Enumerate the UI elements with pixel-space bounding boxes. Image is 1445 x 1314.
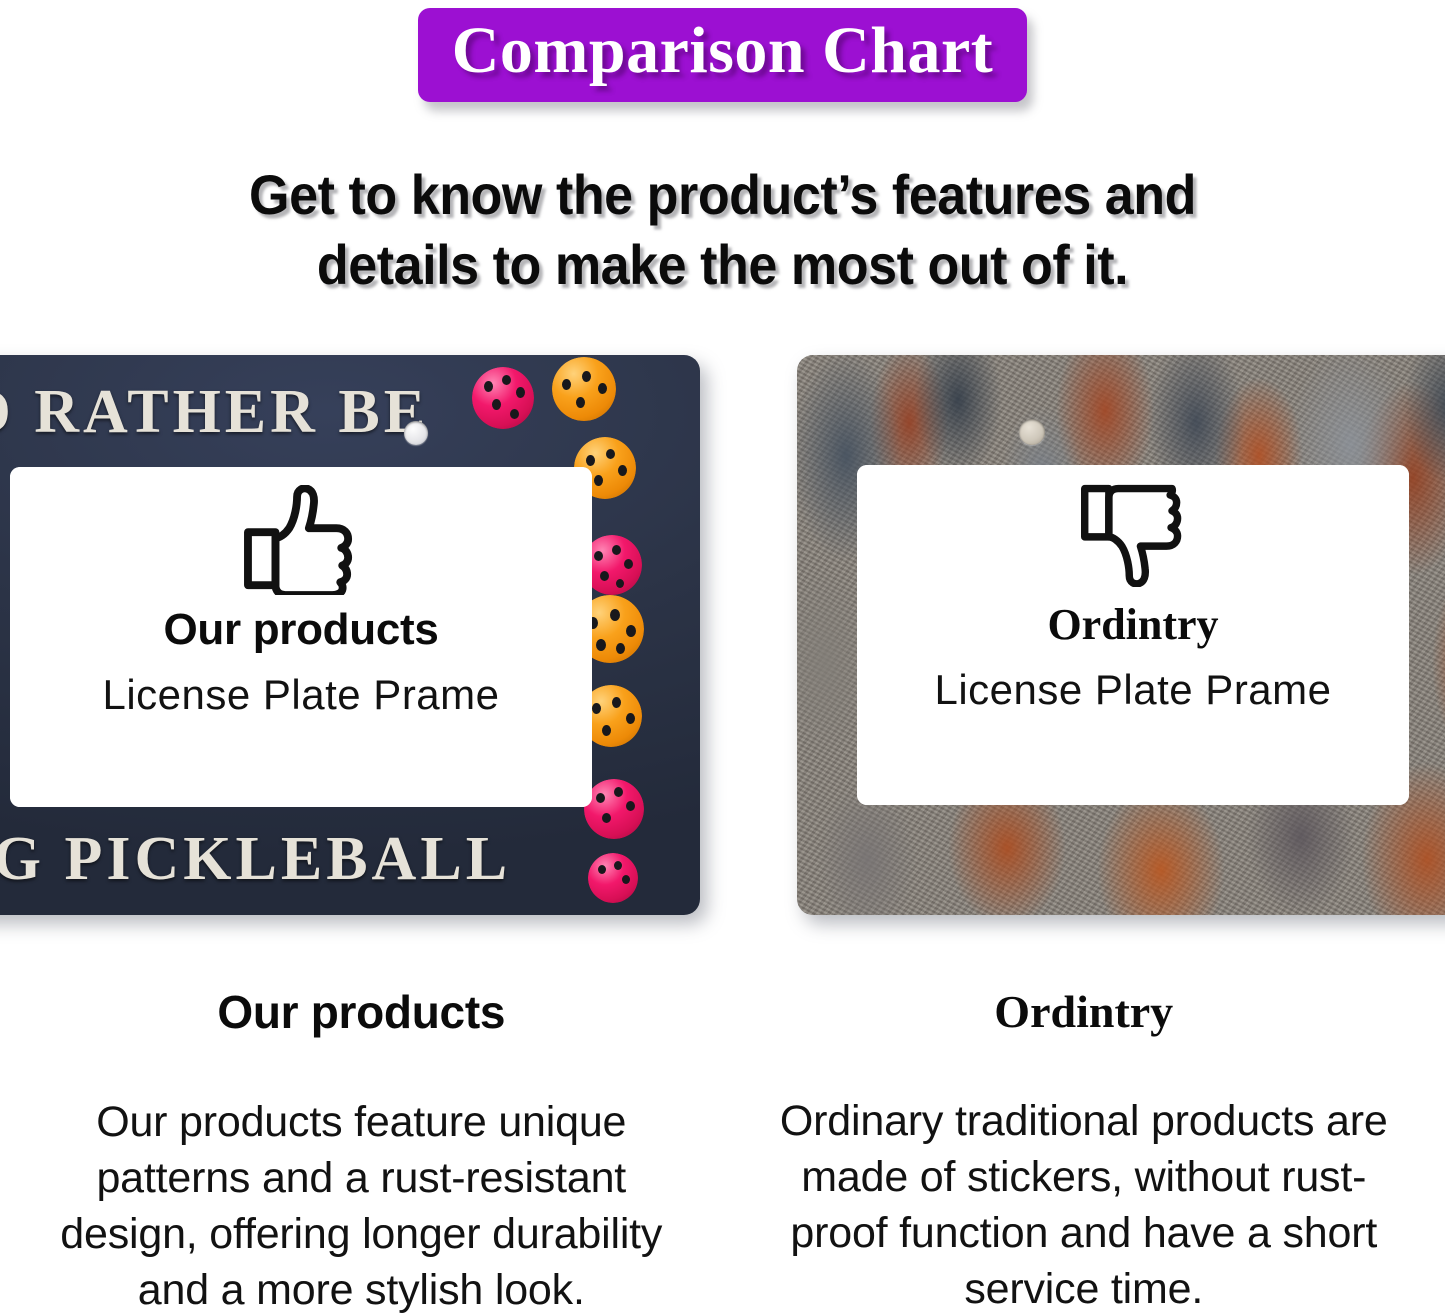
pickleball-hole (618, 465, 627, 476)
subtitle-line-1: Get to know the product’s features and (51, 160, 1395, 230)
pickleball-hole (484, 381, 493, 392)
ordinary-product-window-content: Ordintry License Plate Prame (857, 465, 1409, 805)
pickleball-icon (552, 357, 616, 421)
pickleball-hole (614, 861, 622, 870)
navy-frame-body: D RATHER BE NG PICKLEBALL (0, 355, 700, 915)
our-product-plate-frame: D RATHER BE NG PICKLEBALL (0, 355, 700, 915)
pickleball-sphere (588, 853, 638, 903)
pickleball-hole (624, 559, 633, 569)
ordinary-product-plate-window: Ordintry License Plate Prame (857, 465, 1409, 805)
pickleball-icon (584, 779, 644, 839)
page-title: Comparison Chart (452, 12, 994, 90)
pickleball-hole (594, 475, 603, 486)
pickleball-hole (502, 375, 511, 385)
subtitle-line-2: details to make the most out of it. (51, 230, 1395, 300)
pickleball-hole (626, 801, 635, 811)
ordinary-product-description-text: Ordinary traditional products are made o… (764, 1094, 1404, 1314)
pickleball-hole (592, 703, 601, 714)
pickleball-hole (606, 449, 615, 459)
frame-bottom-text: NG PICKLEBALL (0, 824, 511, 895)
thumbs-down-icon (1081, 483, 1185, 587)
pickleball-hole (612, 697, 621, 708)
title-banner: Comparison Chart (418, 8, 1028, 102)
pickleball-hole (492, 399, 501, 410)
screw-hole-icon (1019, 419, 1045, 445)
ordinary-product-description-column: Ordintry Ordinary traditional products a… (723, 985, 1445, 1314)
rusted-frame-body: Ordintry License Plate Prame (797, 355, 1445, 915)
pickleball-hole (602, 813, 611, 823)
pickleball-hole (610, 609, 620, 621)
frame-top-text: D RATHER BE (0, 377, 429, 448)
description-columns: Our products Our products feature unique… (0, 985, 1445, 1314)
our-product-window-subtitle: License Plate Prame (102, 671, 499, 719)
pickleball-hole (596, 639, 606, 651)
pickleball-hole (516, 387, 525, 398)
pickleball-hole (598, 383, 607, 394)
pickleball-hole (616, 643, 625, 654)
our-product-section-heading: Our products (0, 985, 723, 1039)
pickleball-icon (472, 367, 534, 429)
page-subtitle: Get to know the product’s features and d… (51, 160, 1395, 300)
pickleball-hole (622, 875, 630, 884)
ordinary-product-plate-frame: Ordintry License Plate Prame (797, 355, 1445, 915)
ordinary-product-window-subtitle: License Plate Prame (934, 666, 1331, 714)
comparison-chart-page: Comparison Chart Get to know the product… (0, 0, 1445, 1314)
pickleball-hole (626, 625, 636, 637)
our-product-window-content: Our products License Plate Prame (10, 467, 592, 807)
our-product-window-title: Our products (163, 605, 438, 655)
pickleball-hole (612, 545, 621, 555)
ordinary-product-window-title: Ordintry (1047, 599, 1218, 650)
pickleball-hole (576, 397, 585, 408)
frames-comparison-row: D RATHER BE NG PICKLEBALL (0, 345, 1445, 925)
pickleball-hole (510, 409, 519, 419)
pickleball-hole (582, 371, 591, 382)
our-product-description-text: Our products feature unique patterns and… (31, 1095, 691, 1314)
pickleball-hole (600, 571, 609, 581)
pickleball-icon (588, 853, 638, 903)
thumbs-up-icon (242, 485, 360, 595)
pickleball-hole (562, 379, 571, 390)
pickleball-hole (594, 551, 603, 561)
screw-hole-icon (404, 421, 428, 445)
pickleball-hole (598, 865, 606, 874)
ordinary-product-section-heading: Ordintry (723, 985, 1445, 1038)
pickleball-hole (616, 579, 624, 588)
pickleball-hole (626, 713, 635, 724)
pickleball-hole (614, 787, 623, 797)
our-product-plate-window: Our products License Plate Prame (10, 467, 592, 807)
banner-container: Comparison Chart (0, 8, 1445, 102)
pickleball-hole (596, 793, 605, 803)
our-product-description-column: Our products Our products feature unique… (0, 985, 723, 1314)
pickleball-hole (602, 725, 611, 736)
pickleball-hole (586, 455, 595, 466)
